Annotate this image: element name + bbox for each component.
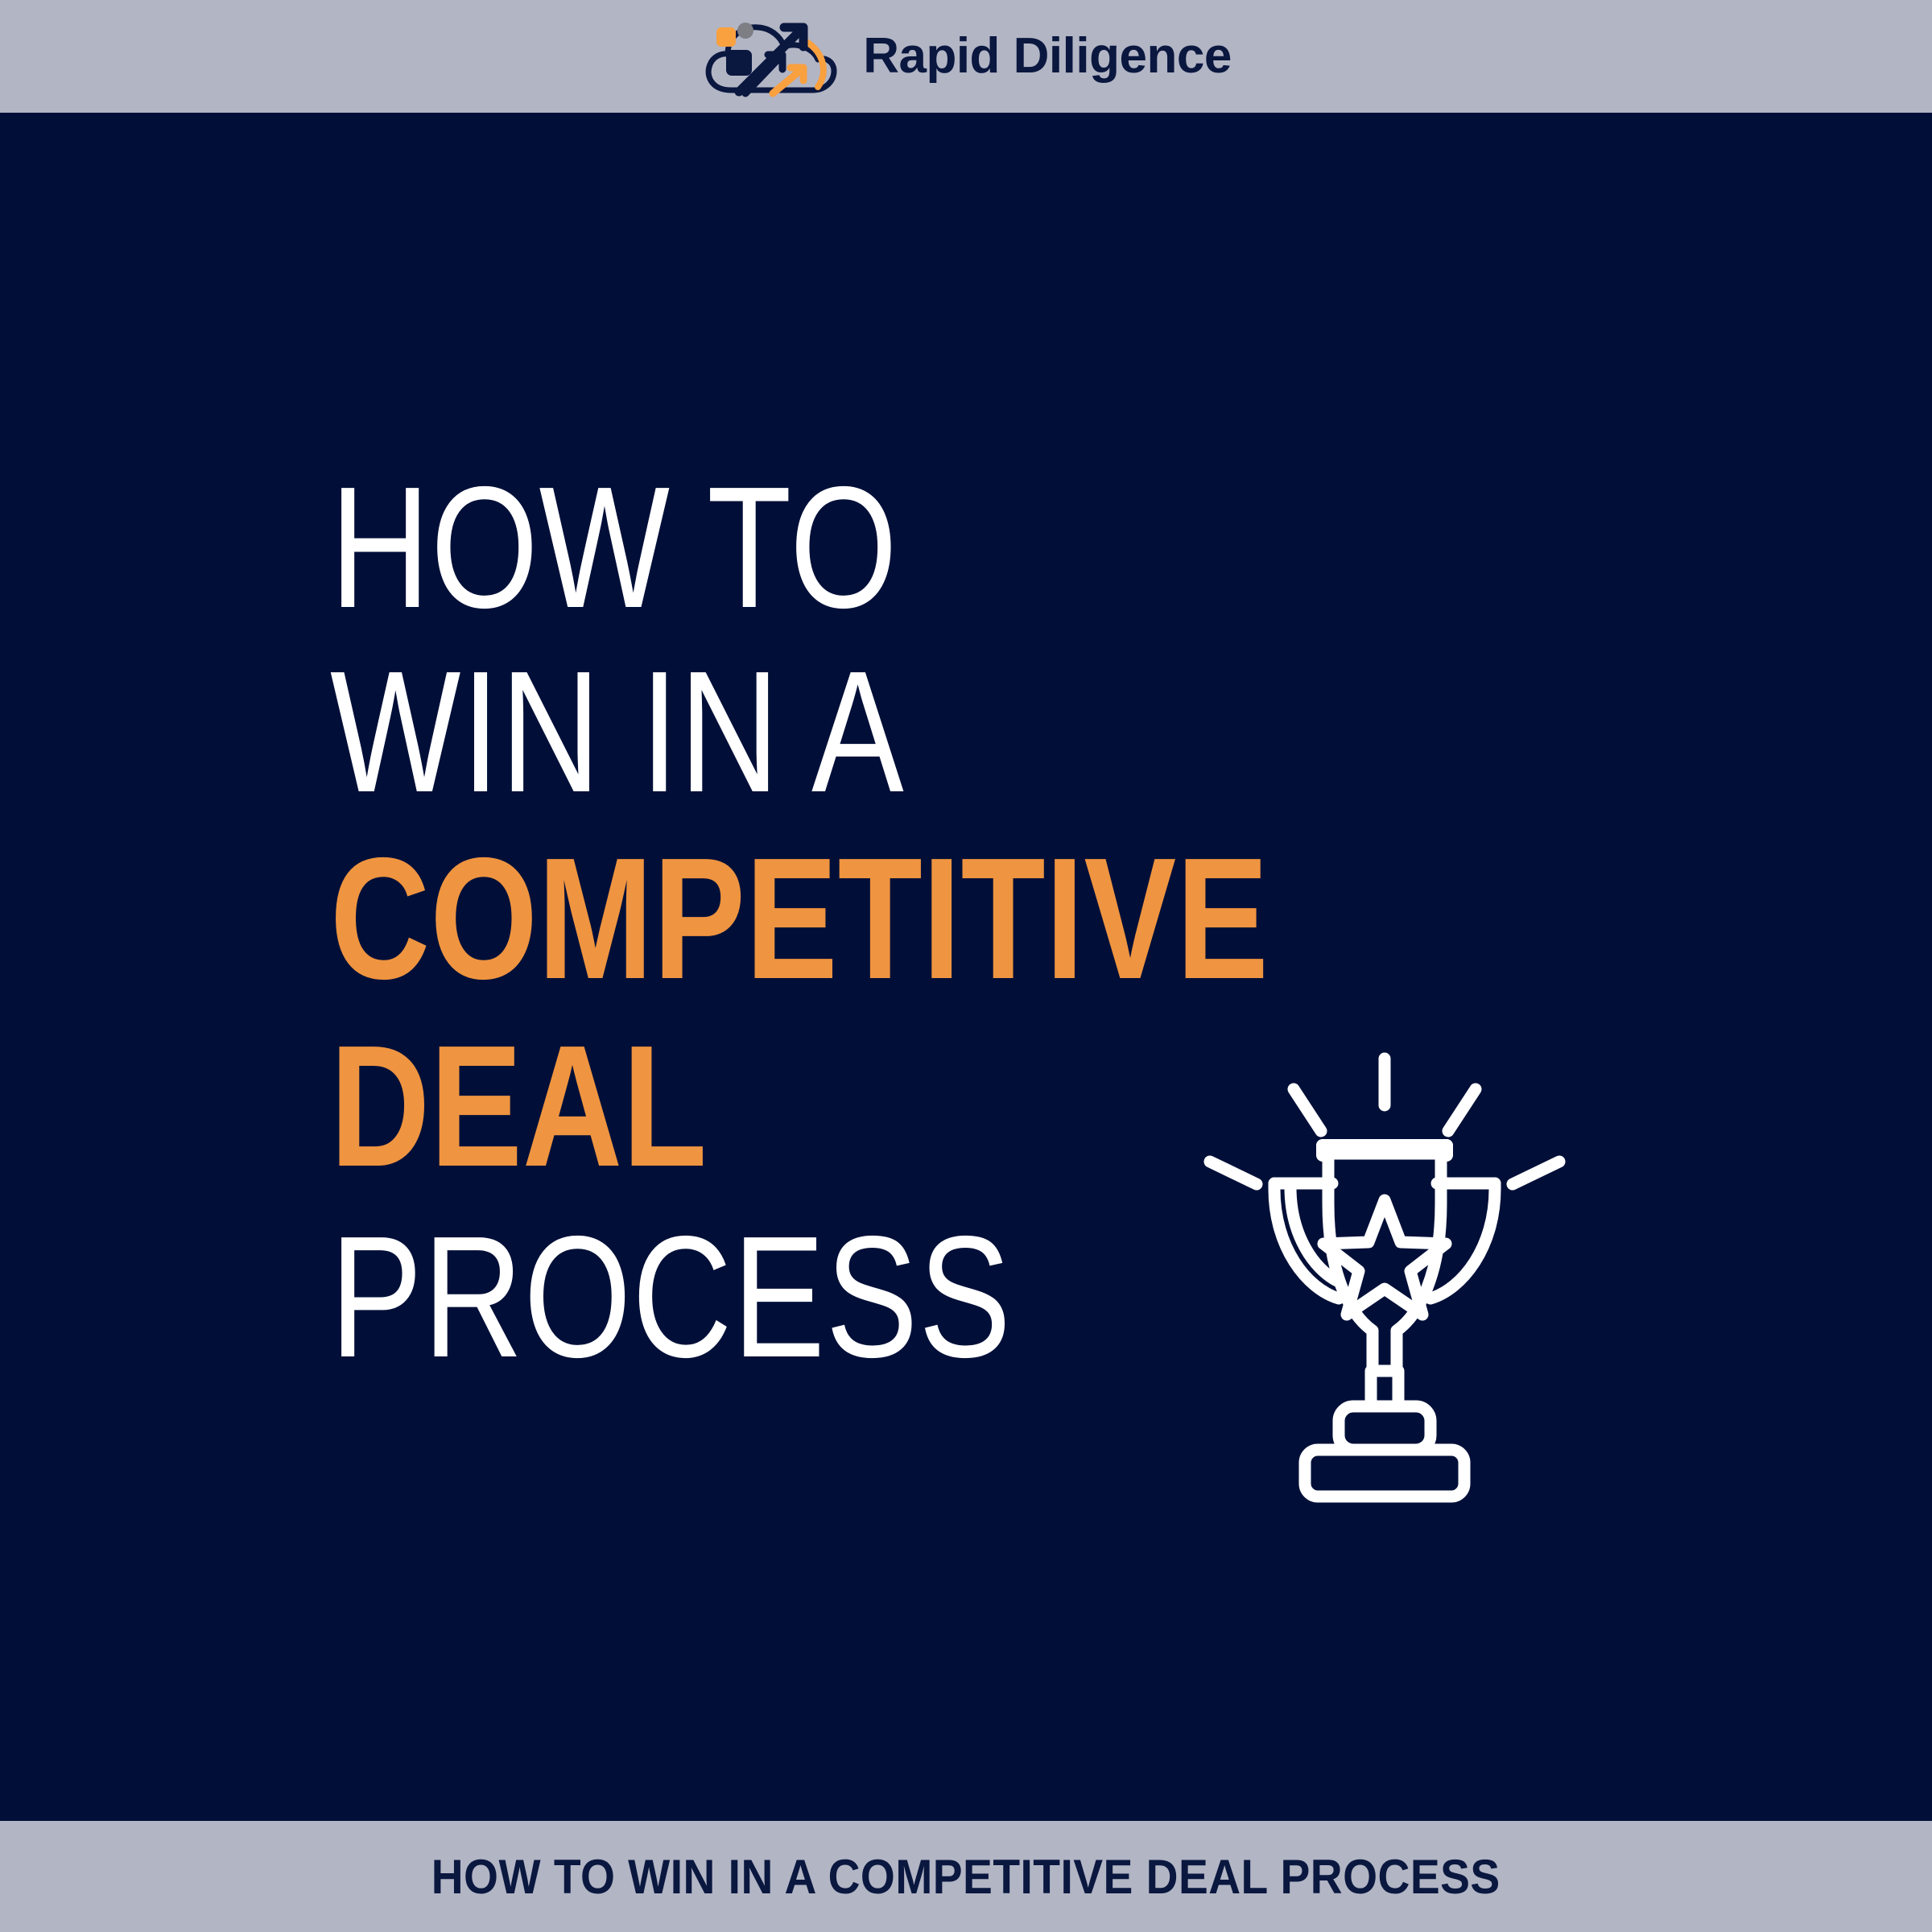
main-canvas: HOW TO WIN IN A COMPETITIVE DEAL PROCESS [0, 113, 1932, 1821]
brand-name: Rapid Diligence [863, 31, 1232, 81]
caption-text: HOW TO WIN IN A COMPETITIVE DEAL PROCESS [431, 1849, 1501, 1905]
trophy-with-star-icon [1171, 1042, 1598, 1542]
headline-line-1: HOW TO [330, 463, 1425, 633]
brand-header-band: Rapid Diligence [0, 0, 1932, 113]
cloud-growth-arrow-icon [700, 13, 842, 100]
caption-footer-band: HOW TO WIN IN A COMPETITIVE DEAL PROCESS [0, 1821, 1932, 1932]
headline-line-3-accent: COMPETITIVE [330, 834, 1425, 1004]
trophy-graphic [1171, 1042, 1598, 1542]
poster-canvas: Rapid Diligence HOW TO WIN IN A COMPETIT… [0, 0, 1932, 1932]
headline-line-2: WIN IN A [330, 647, 1425, 817]
